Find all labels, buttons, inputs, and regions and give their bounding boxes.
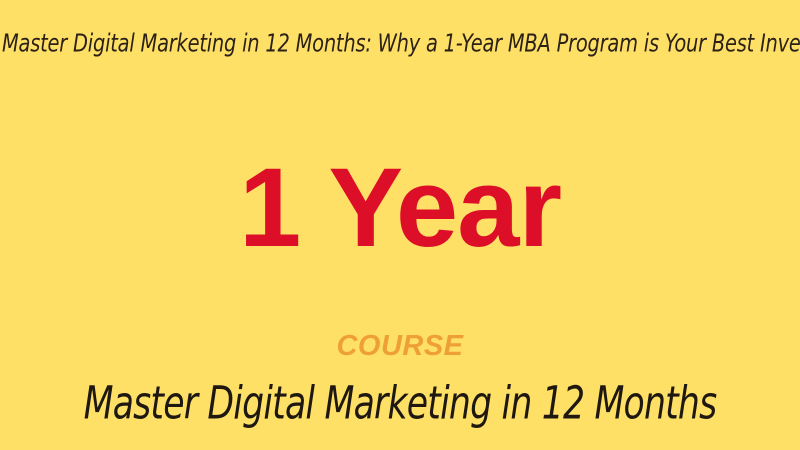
headline-duration: 1 Year [0,152,800,264]
promo-slide: Master Digital Marketing in 12 Months: W… [0,0,800,450]
page-title: Master Digital Marketing in 12 Months: W… [2,31,798,56]
kicker-label-course: COURSE [0,332,800,361]
course-name-label: Master Digital Marketing in 12 Months [4,382,796,428]
